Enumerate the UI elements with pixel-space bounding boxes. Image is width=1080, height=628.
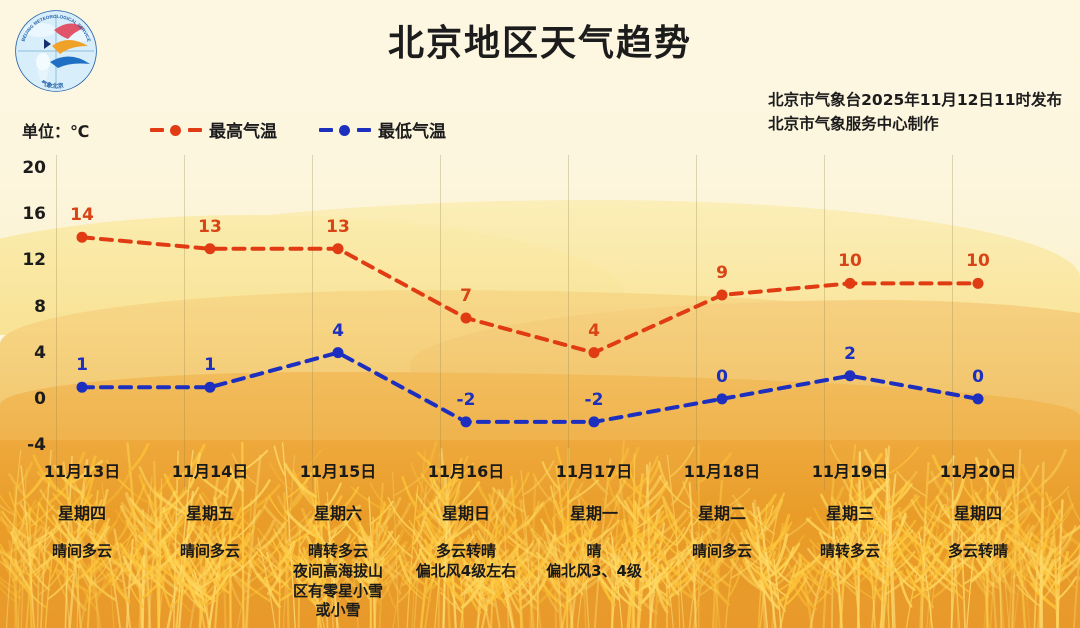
data-point-high-4 [589, 347, 600, 358]
day-column-6[interactable]: 11月19日星期三晴转多云 [786, 458, 914, 562]
point-label-low-2: 4 [332, 321, 344, 341]
legend-label-low: 最低气温 [378, 117, 446, 142]
day-weekday-1: 星期五 [146, 500, 274, 524]
day-column-0[interactable]: 11月13日星期四晴间多云 [18, 458, 146, 562]
day-weather-line: 多云转晴 [402, 542, 530, 562]
data-point-low-6 [845, 370, 856, 381]
point-label-high-4: 4 [588, 321, 600, 341]
day-weather-7: 多云转晴 [914, 542, 1042, 562]
point-label-high-0: 14 [70, 205, 94, 225]
day-weather-line: 晴间多云 [658, 542, 786, 562]
day-weather-0: 晴间多云 [18, 542, 146, 562]
data-point-low-1 [205, 382, 216, 393]
day-weather-line: 偏北风4级左右 [402, 562, 530, 582]
day-weekday-4: 星期一 [530, 500, 658, 524]
day-weather-line: 晴转多云 [786, 542, 914, 562]
temperature-trend-chart: 201612840-4 1413137491010114-2-2020 [0, 155, 1080, 455]
publisher-info: 北京市气象台2025年11月12日11时发布 北京市气象服务中心制作 [768, 88, 1062, 136]
point-label-high-5: 9 [716, 263, 728, 283]
day-date-6: 11月19日 [786, 458, 914, 482]
data-point-low-0 [77, 382, 88, 393]
day-weather-line: 区有零星小雪 [274, 582, 402, 602]
day-weather-2: 晴转多云夜间高海拔山区有零星小雪或小雪 [274, 542, 402, 621]
point-label-low-4: -2 [585, 390, 604, 410]
point-label-low-1: 1 [204, 355, 216, 375]
data-point-high-0 [77, 232, 88, 243]
legend-label-high: 最高气温 [209, 117, 277, 142]
day-weather-line: 偏北风3、4级 [530, 562, 658, 582]
day-weather-line: 多云转晴 [914, 542, 1042, 562]
day-weather-3: 多云转晴偏北风4级左右 [402, 542, 530, 582]
data-point-high-7 [973, 278, 984, 289]
chart-legend: 最高气温 最低气温 [150, 117, 446, 142]
day-weekday-3: 星期日 [402, 500, 530, 524]
data-point-low-4 [589, 416, 600, 427]
chart-series-lines [0, 155, 1080, 455]
data-point-high-2 [333, 243, 344, 254]
day-column-1[interactable]: 11月14日星期五晴间多云 [146, 458, 274, 562]
day-date-7: 11月20日 [914, 458, 1042, 482]
point-label-high-3: 7 [460, 286, 472, 306]
day-weekday-0: 星期四 [18, 500, 146, 524]
day-weather-4: 晴偏北风3、4级 [530, 542, 658, 582]
day-column-5[interactable]: 11月18日星期二晴间多云 [658, 458, 786, 562]
day-column-4[interactable]: 11月17日星期一晴偏北风3、4级 [530, 458, 658, 582]
day-weekday-6: 星期三 [786, 500, 914, 524]
day-weather-1: 晴间多云 [146, 542, 274, 562]
unit-label: 单位：℃ [22, 118, 89, 142]
point-label-high-6: 10 [838, 251, 862, 271]
data-point-high-3 [461, 313, 472, 324]
day-date-2: 11月15日 [274, 458, 402, 482]
x-axis-day-columns: 11月13日星期四晴间多云11月14日星期五晴间多云11月15日星期六晴转多云夜… [0, 458, 1080, 628]
data-point-high-6 [845, 278, 856, 289]
day-column-7[interactable]: 11月20日星期四多云转晴 [914, 458, 1042, 562]
legend-item-low: 最低气温 [319, 117, 446, 142]
point-label-low-5: 0 [716, 367, 728, 387]
day-weekday-2: 星期六 [274, 500, 402, 524]
publisher-line-2: 北京市气象服务中心制作 [768, 112, 1062, 136]
legend-swatch-low-icon [319, 123, 371, 137]
point-label-high-1: 13 [198, 217, 222, 237]
data-point-high-5 [717, 289, 728, 300]
day-weather-5: 晴间多云 [658, 542, 786, 562]
day-column-3[interactable]: 11月16日星期日多云转晴偏北风4级左右 [402, 458, 530, 582]
legend-swatch-high-icon [150, 123, 202, 137]
publisher-line-1: 北京市气象台2025年11月12日11时发布 [768, 88, 1062, 112]
data-point-low-7 [973, 393, 984, 404]
day-weather-line: 夜间高海拔山 [274, 562, 402, 582]
day-date-1: 11月14日 [146, 458, 274, 482]
legend-item-high: 最高气温 [150, 117, 277, 142]
day-column-2[interactable]: 11月15日星期六晴转多云夜间高海拔山区有零星小雪或小雪 [274, 458, 402, 621]
day-weekday-7: 星期四 [914, 500, 1042, 524]
data-point-low-3 [461, 416, 472, 427]
day-weather-line: 晴 [530, 542, 658, 562]
day-weather-line: 晴间多云 [146, 542, 274, 562]
day-weather-line: 晴转多云 [274, 542, 402, 562]
day-weather-6: 晴转多云 [786, 542, 914, 562]
point-label-low-7: 0 [972, 367, 984, 387]
data-point-low-5 [717, 393, 728, 404]
day-date-5: 11月18日 [658, 458, 786, 482]
point-label-low-0: 1 [76, 355, 88, 375]
day-weather-line: 或小雪 [274, 601, 402, 621]
day-date-0: 11月13日 [18, 458, 146, 482]
point-label-high-7: 10 [966, 251, 990, 271]
day-weekday-5: 星期二 [658, 500, 786, 524]
point-label-low-3: -2 [457, 390, 476, 410]
day-date-4: 11月17日 [530, 458, 658, 482]
data-point-high-1 [205, 243, 216, 254]
point-label-low-6: 2 [844, 344, 856, 364]
day-date-3: 11月16日 [402, 458, 530, 482]
point-label-high-2: 13 [326, 217, 350, 237]
page-title: 北京地区天气趋势 [0, 14, 1080, 66]
data-point-low-2 [333, 347, 344, 358]
day-weather-line: 晴间多云 [18, 542, 146, 562]
